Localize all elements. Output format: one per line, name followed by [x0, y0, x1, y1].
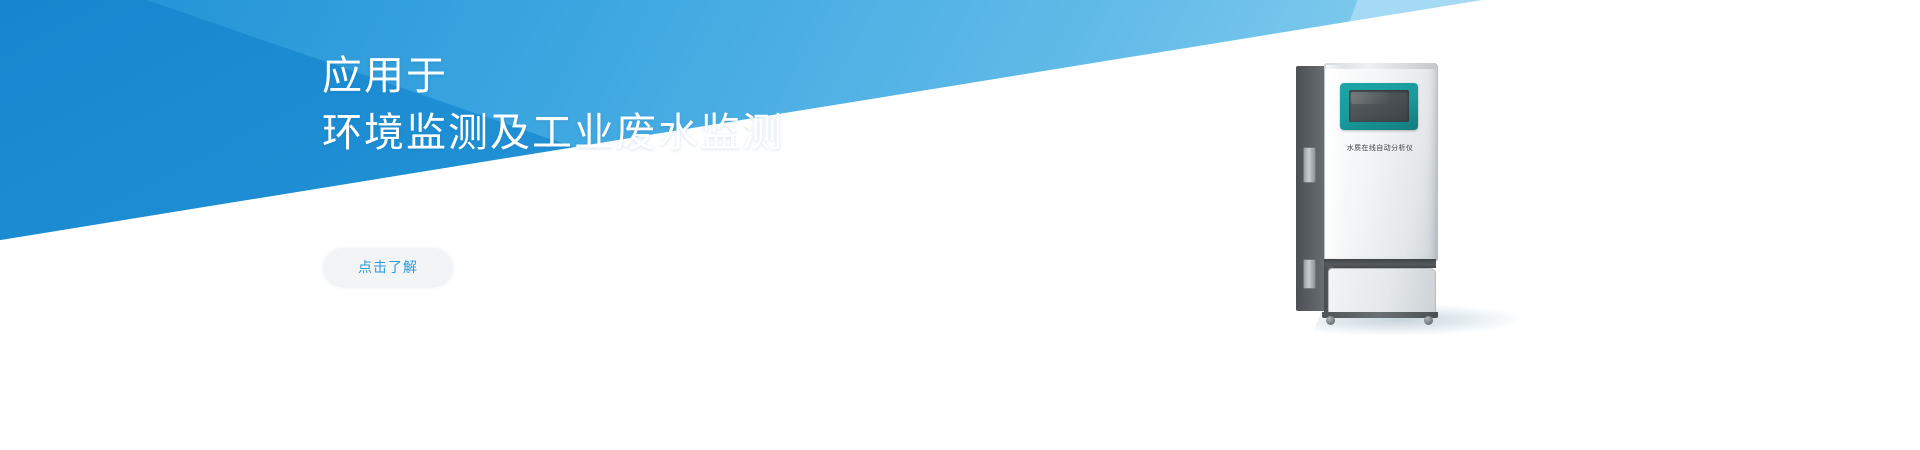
headline-line-2: 环境监测及工业废水监测	[322, 105, 1082, 162]
banner-copy: 应用于 环境监测及工业废水监测 自动标定/自动清洗/自动恢复/标定核查 点击了解	[322, 48, 1082, 286]
cabinet-top-edge	[1324, 63, 1436, 69]
cabinet-handle-upper	[1303, 147, 1316, 183]
cabinet-base	[1322, 312, 1438, 318]
caster-wheel-left	[1326, 316, 1335, 325]
cabinet-seam	[1324, 259, 1436, 268]
learn-more-button[interactable]: 点击了解	[324, 248, 452, 286]
promo-banner: 水质在线自动分析仪 应用于 环境监测及工业废水监测 自动标定/自动清洗/自动恢复…	[0, 0, 1920, 450]
display-glare	[1351, 92, 1389, 104]
product-label-text: 水质在线自动分析仪	[1324, 143, 1436, 153]
banner-headline: 应用于 环境监测及工业废水监测	[322, 48, 1082, 162]
banner-subtitle: 自动标定/自动清洗/自动恢复/标定核查	[324, 188, 1082, 214]
cabinet-handle-lower	[1303, 259, 1316, 289]
headline-line-1: 应用于	[322, 54, 448, 98]
caster-wheel-right	[1424, 316, 1433, 325]
cabinet-lower-door	[1328, 268, 1436, 315]
product-image-water-quality-analyzer: 水质在线自动分析仪	[1296, 63, 1468, 323]
